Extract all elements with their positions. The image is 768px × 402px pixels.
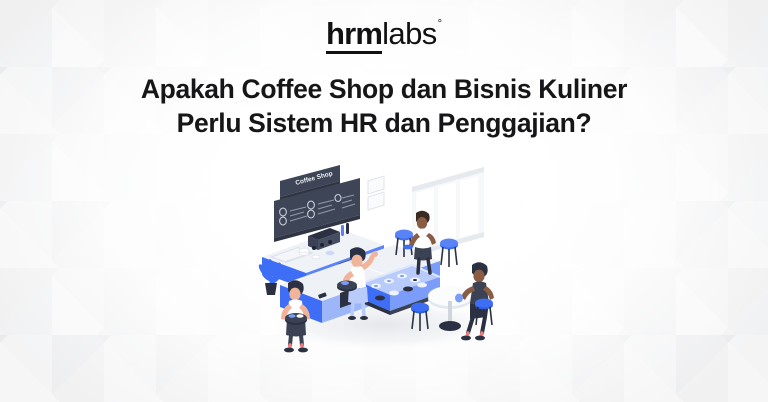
logo-bold-text: hrm: [326, 18, 382, 54]
cover-content: hrm labs ° Apakah Coffee Shop dan Bisnis…: [0, 0, 768, 402]
page-title: Apakah Coffee Shop dan Bisnis Kuliner Pe…: [141, 72, 627, 141]
hrmlabs-logo: hrm labs °: [326, 18, 442, 54]
cover-canvas: hrm labs ° Apakah Coffee Shop dan Bisnis…: [0, 0, 768, 402]
logo-trademark-symbol: °: [438, 19, 442, 30]
page-title-line-2: Perlu Sistem HR dan Penggajian?: [141, 106, 627, 140]
potted-plant: [257, 258, 283, 294]
coffee-shop-illustration: Coffee Shop: [244, 153, 524, 353]
logo-light-text: labs: [382, 18, 436, 51]
bar-stool-back-2: [440, 238, 458, 267]
wall-frames: [368, 176, 384, 210]
page-title-line-1: Apakah Coffee Shop dan Bisnis Kuliner: [141, 74, 627, 104]
